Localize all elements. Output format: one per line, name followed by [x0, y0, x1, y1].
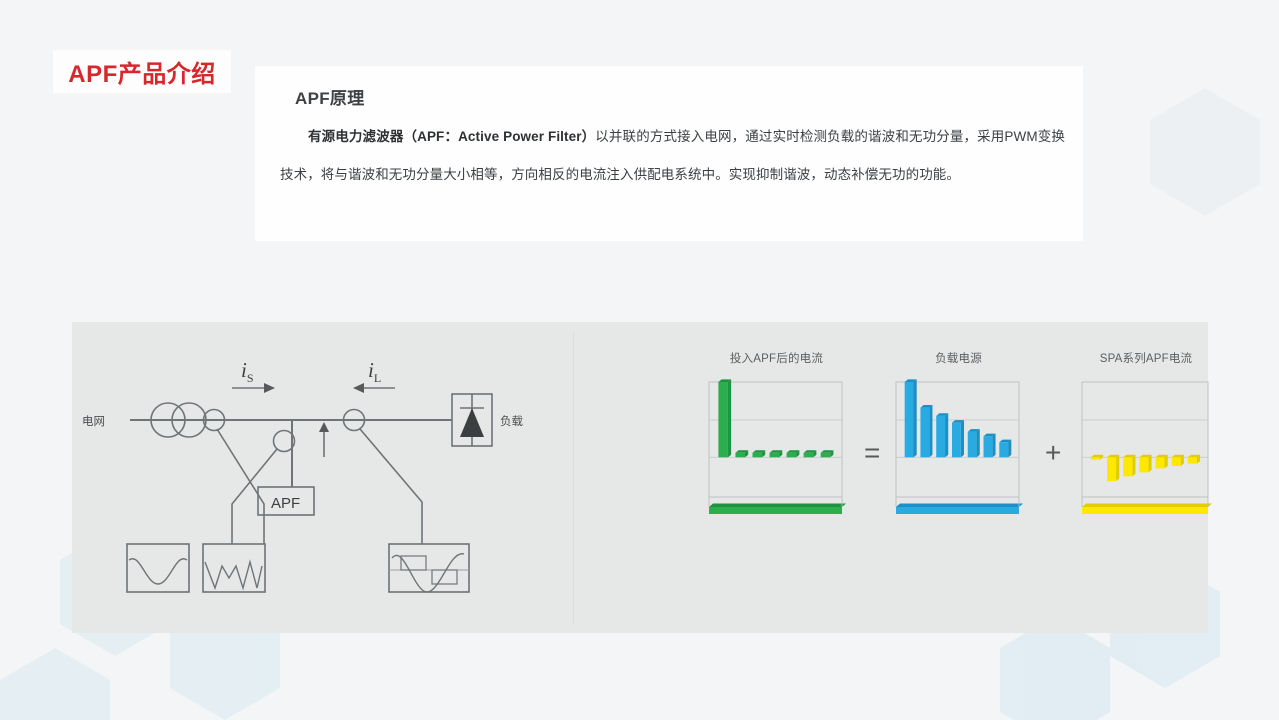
page-title-badge: APF产品介绍	[53, 50, 231, 93]
circuit-label-grid: 电网	[82, 415, 105, 428]
circuit-label-apf: APF	[271, 495, 300, 512]
bar-chart-load-supply	[890, 378, 1027, 533]
bar-chart-apf-current	[1076, 378, 1216, 533]
chart-block-0: 投入APF后的电流	[703, 378, 850, 533]
chart-block-2: SPA系列APF电流	[1076, 378, 1216, 533]
label-current-load: iL	[368, 358, 381, 385]
bar-chart-after-apf	[703, 378, 850, 533]
operator-equals: =	[864, 439, 880, 467]
circuit-diagram: 电网 负载 APF iS iL	[72, 322, 573, 633]
page-title: APF产品介绍	[68, 54, 216, 89]
chart-title-2: SPA系列APF电流	[1076, 350, 1216, 366]
circuit-label-load: 负载	[500, 414, 523, 428]
charts-area: 投入APF后的电流 = 负载电源 + SPA系列APF电流	[573, 322, 1208, 633]
card-body: 有源电力滤波器（APF：Active Power Filter）以并联的方式接入…	[280, 118, 1065, 194]
diagram-panel: 电网 负载 APF iS iL 投入APF后的电流 = 负载电源 + SPA系列…	[72, 322, 1208, 633]
card-heading: APF原理	[295, 84, 365, 109]
chart-block-1: 负载电源	[890, 378, 1027, 533]
label-current-source: iS	[241, 358, 254, 385]
card-body-emphasis: 有源电力滤波器（APF：Active Power Filter）	[308, 129, 595, 144]
chart-title-1: 负载电源	[890, 350, 1027, 366]
thyristor-icon	[460, 408, 484, 437]
apf-principle-card: APF原理 有源电力滤波器（APF：Active Power Filter）以并…	[255, 66, 1083, 241]
chart-title-0: 投入APF后的电流	[703, 350, 850, 366]
operator-plus: +	[1045, 439, 1061, 467]
